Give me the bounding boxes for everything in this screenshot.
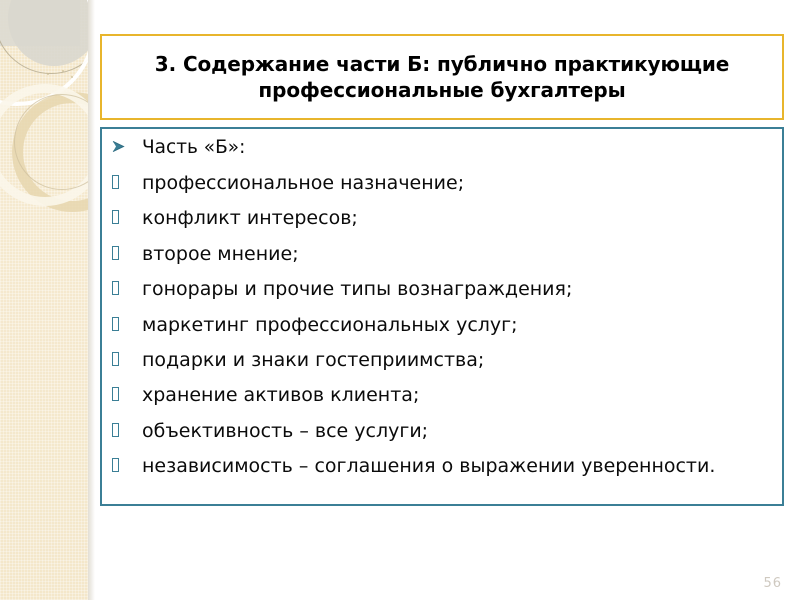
list-item-label: независимость – соглашения о выражении у…: [142, 455, 768, 477]
square-bullet-icon: [112, 314, 142, 331]
square-bullet-glyph: [112, 317, 119, 331]
square-bullet-glyph: [112, 210, 119, 224]
square-bullet-icon: [112, 384, 142, 401]
square-bullet-icon: [112, 420, 142, 437]
list-item-label: профессиональное назначение;: [142, 172, 768, 194]
square-bullet-glyph: [112, 352, 119, 366]
square-bullet-icon: [112, 349, 142, 366]
list-item: подарки и знаки гостеприимства;: [112, 349, 768, 371]
square-bullet-glyph: [112, 423, 119, 437]
page-title-line-2: профессиональные бухгалтеры: [258, 78, 625, 102]
square-bullet-icon: [112, 243, 142, 260]
arrow-bullet-icon: [112, 137, 142, 153]
list-item-label: хранение активов клиента;: [142, 384, 768, 406]
list-item: хранение активов клиента;: [112, 384, 768, 406]
list-item: Часть «Б»:: [112, 137, 768, 159]
list-item-label: маркетинг профессиональных услуг;: [142, 314, 768, 336]
list-item-label: подарки и знаки гостеприимства;: [142, 349, 768, 371]
sidebar-shadow: [88, 0, 95, 600]
square-bullet-glyph: [112, 175, 119, 189]
square-bullet-icon: [112, 172, 142, 189]
square-bullet-icon: [112, 455, 142, 472]
square-bullet-glyph: [112, 387, 119, 401]
page-number: 56: [763, 576, 782, 591]
square-bullet-icon: [112, 207, 142, 224]
list-item: маркетинг профессиональных услуг;: [112, 314, 768, 336]
list-item: объективность – все услуги;: [112, 420, 768, 442]
slide-title-box: 3. Содержание части Б: публично практику…: [100, 34, 784, 120]
slide-canvas: 3. Содержание части Б: публично практику…: [0, 0, 800, 600]
list-item: второе мнение;: [112, 243, 768, 265]
list-item-label: объективность – все услуги;: [142, 420, 768, 442]
sidebar-speck: [71, 76, 73, 78]
list-item-label: Часть «Б»:: [142, 137, 768, 159]
bullet-list: Часть «Б»:профессиональное назначение;ко…: [112, 137, 768, 478]
sidebar-speck: [62, 70, 64, 72]
page-title-line-1: 3. Содержание части Б: публично практику…: [155, 52, 729, 76]
square-bullet-icon: [112, 278, 142, 295]
decorative-sidebar: [0, 0, 88, 600]
square-bullet-glyph: [112, 246, 119, 260]
list-item: профессиональное назначение;: [112, 172, 768, 194]
square-bullet-glyph: [112, 281, 119, 295]
list-item: независимость – соглашения о выражении у…: [112, 455, 768, 477]
list-item-label: гонорары и прочие типы вознаграждения;: [142, 278, 768, 300]
list-item-label: второе мнение;: [142, 243, 768, 265]
list-item-label: конфликт интересов;: [142, 207, 768, 229]
page-title: 3. Содержание части Б: публично практику…: [102, 51, 782, 104]
square-bullet-glyph: [112, 458, 119, 472]
slide-content-box: Часть «Б»:профессиональное назначение;ко…: [100, 127, 784, 506]
list-item: конфликт интересов;: [112, 207, 768, 229]
sidebar-speck: [47, 73, 49, 75]
list-item: гонорары и прочие типы вознаграждения;: [112, 278, 768, 300]
